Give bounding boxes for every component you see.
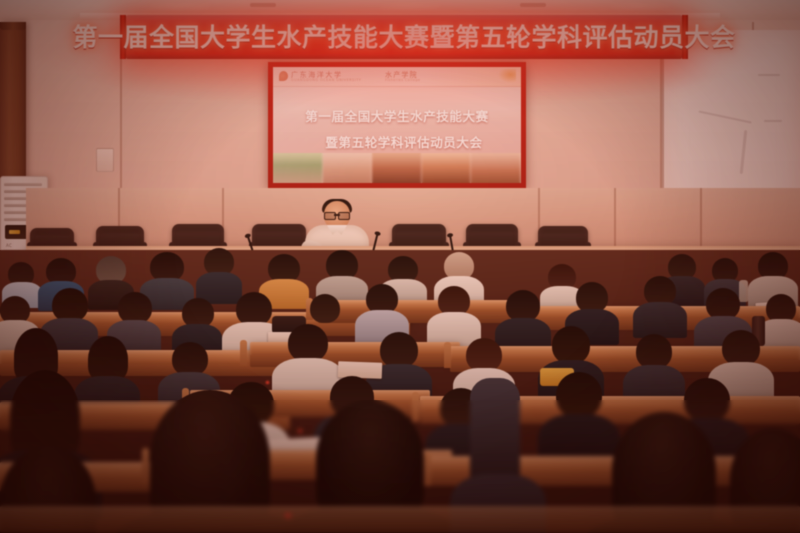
ceiling-vent xyxy=(250,3,276,7)
desk-divider xyxy=(240,340,247,366)
red-glow-speck xyxy=(264,380,271,385)
water-bottle xyxy=(739,280,748,302)
lecture-desk-row xyxy=(250,342,460,357)
wall-plate xyxy=(96,148,114,172)
lecture-desk-row xyxy=(318,300,518,313)
slide-logo-sub-en: Fisheries College xyxy=(385,78,420,82)
desk-divider xyxy=(444,342,451,368)
red-glow-speck xyxy=(282,512,294,519)
lecture-desk-row xyxy=(0,506,800,532)
conference-hall-photo: AC 第一届全国大学生水产技能大赛暨第五轮学科评估动员大会 广东海洋大学 GUA… xyxy=(0,0,800,533)
desk-divider xyxy=(424,452,431,486)
desk-divider xyxy=(142,448,149,484)
slide-logo-en: GUANGDONG OCEAN UNIVERSITY xyxy=(291,78,361,82)
ceiling-light xyxy=(610,1,670,10)
slide-header: 广东海洋大学 GUANGDONG OCEAN UNIVERSITY 水产学院 F… xyxy=(273,67,521,87)
ceiling-light xyxy=(380,1,440,10)
ac-brand-label: AC xyxy=(6,243,12,248)
panel-seam xyxy=(614,188,616,250)
projection-screen: 广东海洋大学 GUANGDONG OCEAN UNIVERSITY 水产学院 F… xyxy=(273,67,521,183)
desk-divider xyxy=(412,392,419,422)
panel-seam xyxy=(700,188,702,250)
audience-area xyxy=(0,250,800,533)
ceiling-vent xyxy=(520,3,546,7)
red-glow-speck xyxy=(296,428,304,434)
speaker-glasses-icon xyxy=(324,212,350,218)
slide-title-line2: 暨第五轮学科评估动员大会 xyxy=(273,137,521,150)
event-banner: 第一届全国大学生水产技能大赛暨第五轮学科评估动员大会 xyxy=(126,15,682,59)
banner-text: 第一届全国大学生水产技能大赛暨第五轮学科评估动员大会 xyxy=(73,25,736,50)
projection-screen-frame: 广东海洋大学 GUANGDONG OCEAN UNIVERSITY 水产学院 F… xyxy=(268,62,526,188)
ac-display-led xyxy=(9,230,20,234)
wooden-column xyxy=(0,22,26,192)
ceiling-light xyxy=(150,1,210,10)
slide-corner-ornament xyxy=(498,69,516,83)
slide-title-line1: 第一届全国大学生水产技能大赛 xyxy=(273,111,521,124)
university-logo-icon xyxy=(279,71,288,81)
